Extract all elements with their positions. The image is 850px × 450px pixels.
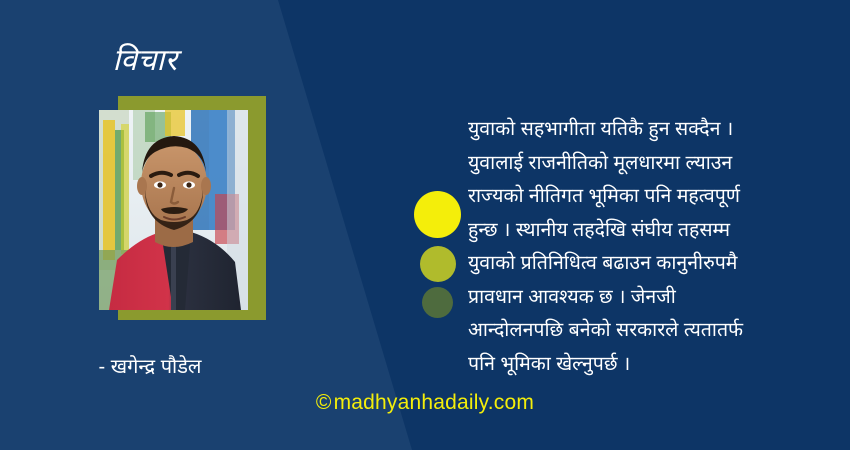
copyright-icon: © bbox=[316, 391, 332, 414]
decorative-dot-medium-olive bbox=[420, 246, 456, 282]
quote-card: विचार bbox=[0, 0, 850, 450]
quote-line: युवाको सहभागीता यतिकै हुन सक्दैन । bbox=[468, 113, 818, 147]
quote-line: युवाको प्रतिनिधित्व बढाउन कानुनीरुपमै bbox=[468, 247, 818, 281]
decorative-dot-small-green bbox=[422, 287, 453, 318]
quote-line: आन्दोलनपछि बनेको सरकारले त्यतातर्फ bbox=[468, 314, 818, 348]
quote-line: राज्यको नीतिगत भूमिका पनि महत्वपूर्ण bbox=[468, 180, 818, 214]
quote-line: हुन्छ । स्थानीय तहदेखि संघीय तहसम्म bbox=[468, 214, 818, 248]
decorative-dot-large-yellow bbox=[414, 191, 461, 238]
quote-line: प्रावधान आवश्यक छ । जेनजी bbox=[468, 281, 818, 315]
quote-line: पनि भूमिका खेल्नुपर्छ । bbox=[468, 348, 818, 382]
page-title: विचार bbox=[0, 44, 290, 77]
author-name: - खगेन्द्र पौडेल bbox=[0, 352, 300, 379]
site-domain: madhyanhadaily.com bbox=[334, 391, 535, 414]
quote-text: युवाको सहभागीता यतिकै हुन सक्दैन । युवाल… bbox=[468, 113, 818, 381]
quote-line: युवालाई राजनीतिको मूलधारमा ल्याउन bbox=[468, 147, 818, 181]
portrait-illustration bbox=[99, 110, 248, 310]
portrait-photo bbox=[99, 110, 248, 310]
site-watermark: ©madhyanhadaily.com bbox=[0, 391, 850, 415]
